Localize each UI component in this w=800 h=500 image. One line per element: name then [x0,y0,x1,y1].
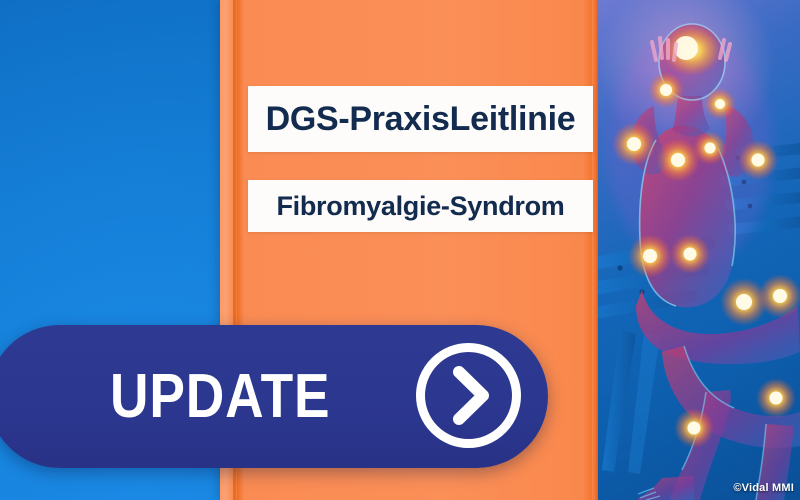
promo-banner: DGS-PraxisLeitlinie Fibromyalgie-Syndrom [0,0,800,500]
book-title-line-2: Fibromyalgie-Syndrom [276,193,564,220]
fibromyalgia-illustration: ©Vidal MMI [598,0,800,500]
book-title-line-1: DGS-PraxisLeitlinie [266,102,576,136]
foot [638,476,694,500]
book-title-plate-secondary: Fibromyalgie-Syndrom [248,180,593,232]
bench-legs [602,330,660,474]
update-cta-label: UPDATE [110,366,330,428]
image-credit: ©Vidal MMI [733,482,794,494]
chevron-right-circle-icon[interactable] [411,338,526,453]
book-title-plate-primary: DGS-PraxisLeitlinie [248,86,593,152]
figure-artwork [598,0,800,500]
